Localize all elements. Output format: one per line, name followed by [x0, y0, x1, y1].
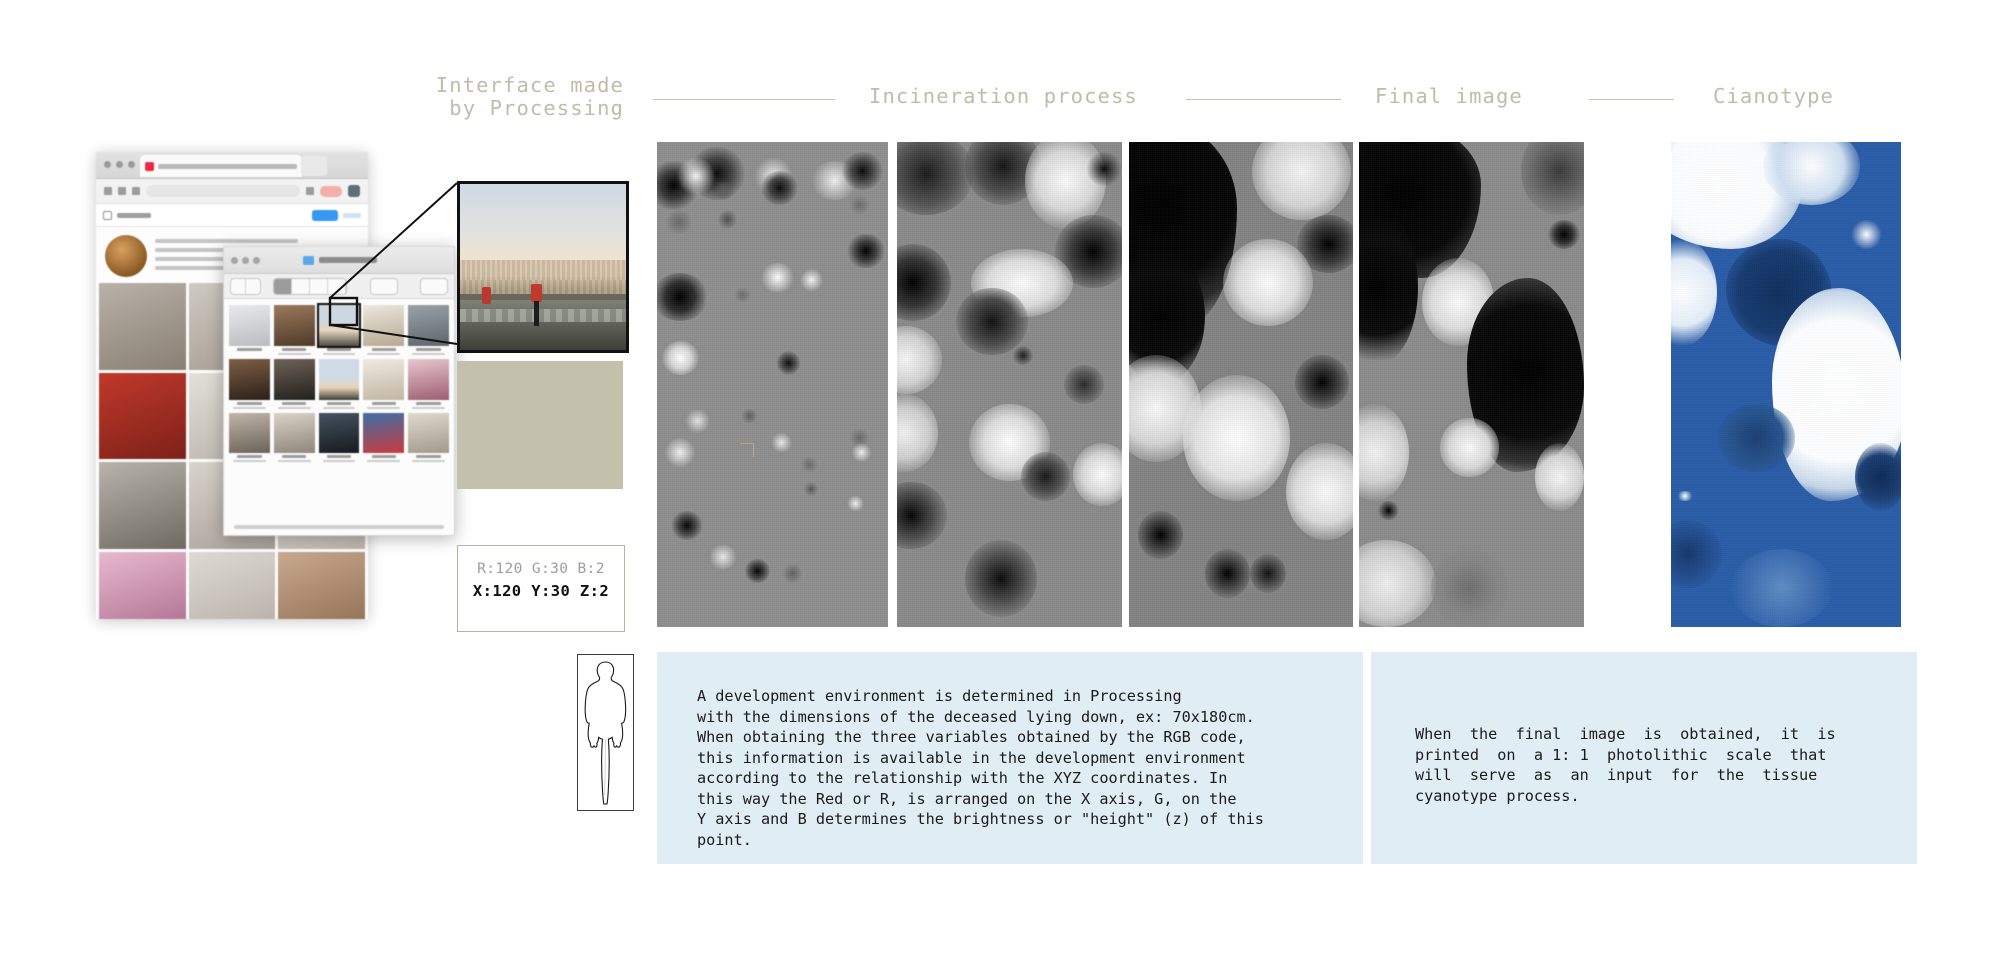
caption-block-left: A development environment is determined …: [657, 652, 1363, 864]
finder-item[interactable]: [229, 413, 270, 463]
grid-photo[interactable]: [278, 552, 365, 619]
back-forward-segment[interactable]: [230, 278, 261, 295]
gear-icon[interactable]: [420, 278, 448, 295]
finder-item[interactable]: [408, 413, 449, 463]
finder-item[interactable]: [408, 359, 449, 409]
sidebar-icon[interactable]: [132, 187, 140, 195]
incineration-step-1: [657, 142, 888, 627]
finder-item[interactable]: [408, 305, 449, 355]
instagram-favicon: [145, 162, 154, 171]
header-label-incineration: Incineration process: [869, 85, 1138, 108]
poster-canvas: Interface made by Processing Incineratio…: [0, 0, 2003, 971]
follow-button[interactable]: [312, 210, 338, 221]
browser-tab[interactable]: [140, 155, 302, 177]
forward-icon[interactable]: [118, 187, 126, 195]
grid-photo[interactable]: [189, 552, 276, 619]
header-rule-2: [1186, 99, 1341, 100]
window-traffic-lights[interactable]: [231, 257, 260, 264]
selected-photo-callout: [457, 181, 629, 353]
share-icon[interactable]: [306, 187, 314, 195]
finder-titlebar[interactable]: [224, 247, 454, 274]
human-body-outline-frame: [577, 654, 634, 811]
grid-photo[interactable]: [99, 373, 186, 460]
photo-person-red: [531, 284, 542, 326]
more-options-icon[interactable]: [343, 213, 361, 218]
finder-photo-grid-window[interactable]: [223, 246, 455, 536]
instagram-handle: [117, 213, 151, 218]
finder-scrollbar[interactable]: [234, 525, 444, 529]
profile-avatar-icon[interactable]: [348, 185, 360, 197]
finder-toolbar[interactable]: [224, 274, 454, 299]
incineration-step-3: [1129, 142, 1353, 627]
grid-photo[interactable]: [99, 283, 186, 370]
caption-right-text: When the final image is obtained, it is …: [1415, 724, 1836, 806]
header-rule-3: [1589, 99, 1674, 100]
header-label-final-image: Final image: [1375, 85, 1523, 108]
incineration-step-2: [897, 142, 1122, 627]
human-body-outline-icon: [578, 655, 633, 810]
column-view-icon[interactable]: [310, 279, 328, 294]
instagram-header-bar: [96, 204, 368, 227]
finder-item[interactable]: [274, 413, 315, 463]
avatar: [105, 235, 147, 277]
color-coordinate-readout: R:120 G:30 B:2 X:120 Y:30 Z:2: [457, 545, 625, 632]
window-traffic-lights[interactable]: [104, 161, 135, 168]
group-by-icon[interactable]: [370, 278, 398, 295]
instagram-logo-icon: [103, 211, 112, 220]
finder-item[interactable]: [229, 305, 270, 355]
header-label-cianotype: Cianotype: [1713, 85, 1834, 108]
browser-toolbar[interactable]: [96, 179, 368, 204]
header-rule-1: [653, 99, 835, 100]
rgb-readout-line: R:120 G:30 B:2: [458, 561, 624, 577]
caption-block-right: When the final image is obtained, it is …: [1371, 652, 1917, 864]
view-mode-segment[interactable]: [273, 278, 347, 295]
back-icon[interactable]: [104, 187, 112, 195]
icon-view-icon[interactable]: [274, 279, 292, 294]
gallery-view-icon[interactable]: [328, 279, 346, 294]
address-bar[interactable]: [146, 185, 300, 197]
sampled-color-swatch: [457, 361, 623, 489]
finder-item[interactable]: [319, 359, 360, 409]
caption-left-text: A development environment is determined …: [697, 686, 1264, 850]
extension-badge-icon[interactable]: [320, 186, 342, 197]
browser-tab-title: [158, 164, 297, 169]
grid-photo[interactable]: [99, 462, 186, 549]
finder-item[interactable]: [274, 305, 315, 355]
section-header-row: Interface made by Processing Incineratio…: [0, 68, 2003, 112]
xyz-readout-line: X:120 Y:30 Z:2: [458, 582, 624, 600]
finder-item[interactable]: [229, 359, 270, 409]
finder-item[interactable]: [363, 359, 404, 409]
photo-foreground: [460, 300, 626, 350]
final-image-panel: [1359, 142, 1584, 627]
browser-tab-inactive[interactable]: [301, 156, 327, 176]
finder-item[interactable]: [319, 413, 360, 463]
photo-skyline: [460, 260, 626, 280]
header-label-interface: Interface made by Processing: [424, 74, 624, 120]
finder-item[interactable]: [363, 305, 404, 355]
finder-item[interactable]: [274, 359, 315, 409]
finder-item[interactable]: [363, 413, 404, 463]
folder-icon: [303, 256, 314, 265]
list-view-icon[interactable]: [292, 279, 310, 294]
finder-file-grid[interactable]: [224, 299, 454, 468]
finder-window-title: [319, 257, 377, 263]
cianotype-panel: [1671, 142, 1901, 627]
finder-item-selected[interactable]: [319, 305, 360, 355]
browser-titlebar[interactable]: [96, 152, 368, 179]
photo-person-secondary: [482, 287, 491, 304]
grid-photo[interactable]: [99, 552, 186, 619]
